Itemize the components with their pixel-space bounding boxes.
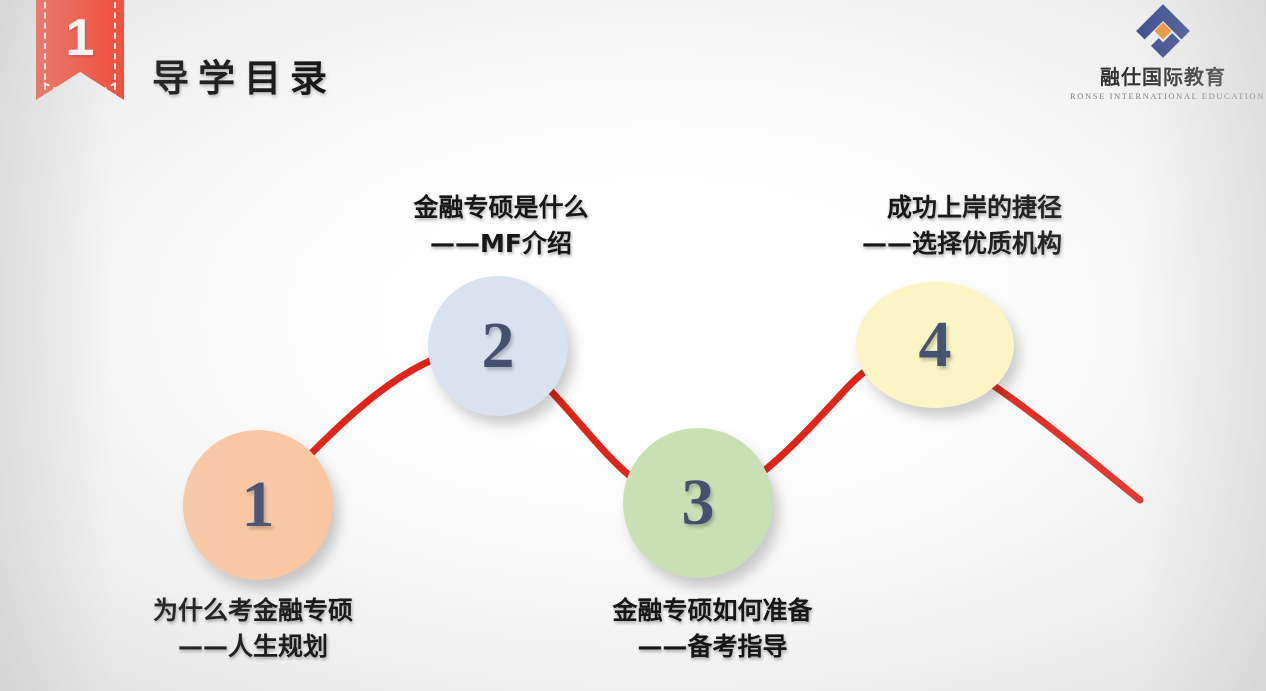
- step-circle-1[interactable]: 1: [183, 430, 333, 580]
- step-caption-2: 金融专硕是什么 ——MF介绍: [392, 190, 610, 261]
- page-title: 导学目录: [152, 48, 336, 102]
- step-caption-3-line1: 金融专硕如何准备: [612, 596, 812, 625]
- step-circle-2[interactable]: 2: [428, 276, 568, 416]
- brand-logo: 融仕国际教育 RONSE INTERNATIONAL EDUCATION: [1070, 2, 1256, 101]
- step-caption-3: 金融专硕如何准备 ——备考指导: [585, 593, 840, 664]
- step-number-2: 2: [482, 313, 515, 379]
- step-caption-4: 成功上岸的捷径 ——选择优质机构: [818, 190, 1062, 261]
- step-caption-1-line1: 为什么考金融专硕: [153, 596, 353, 625]
- ronse-diamond-logo-icon: [1132, 2, 1194, 60]
- section-number: 1: [36, 8, 124, 68]
- step-caption-1: 为什么考金融专硕 ——人生规划: [128, 593, 378, 664]
- step-number-4: 4: [919, 312, 952, 378]
- step-circle-4[interactable]: 4: [856, 282, 1014, 408]
- step-caption-2-line2: ——MF介绍: [392, 226, 610, 262]
- step-circle-3[interactable]: 3: [623, 428, 773, 578]
- step-caption-1-line2: ——人生规划: [128, 629, 378, 665]
- step-caption-4-line1: 成功上岸的捷径: [887, 193, 1062, 222]
- presentation-slide: 1 导学目录 融仕国际教育 RONSE INTERNATIONAL EDUCAT…: [0, 0, 1266, 691]
- connector-svg: [0, 0, 1266, 691]
- step-number-3: 3: [682, 470, 715, 536]
- step-caption-3-line2: ——备考指导: [585, 629, 840, 665]
- step-caption-2-line1: 金融专硕是什么: [413, 193, 588, 222]
- step-number-1: 1: [242, 472, 275, 538]
- logo-name-cn: 融仕国际教育: [1070, 61, 1256, 90]
- logo-name-en: RONSE INTERNATIONAL EDUCATION: [1070, 91, 1256, 101]
- step-caption-4-line2: ——选择优质机构: [818, 226, 1062, 262]
